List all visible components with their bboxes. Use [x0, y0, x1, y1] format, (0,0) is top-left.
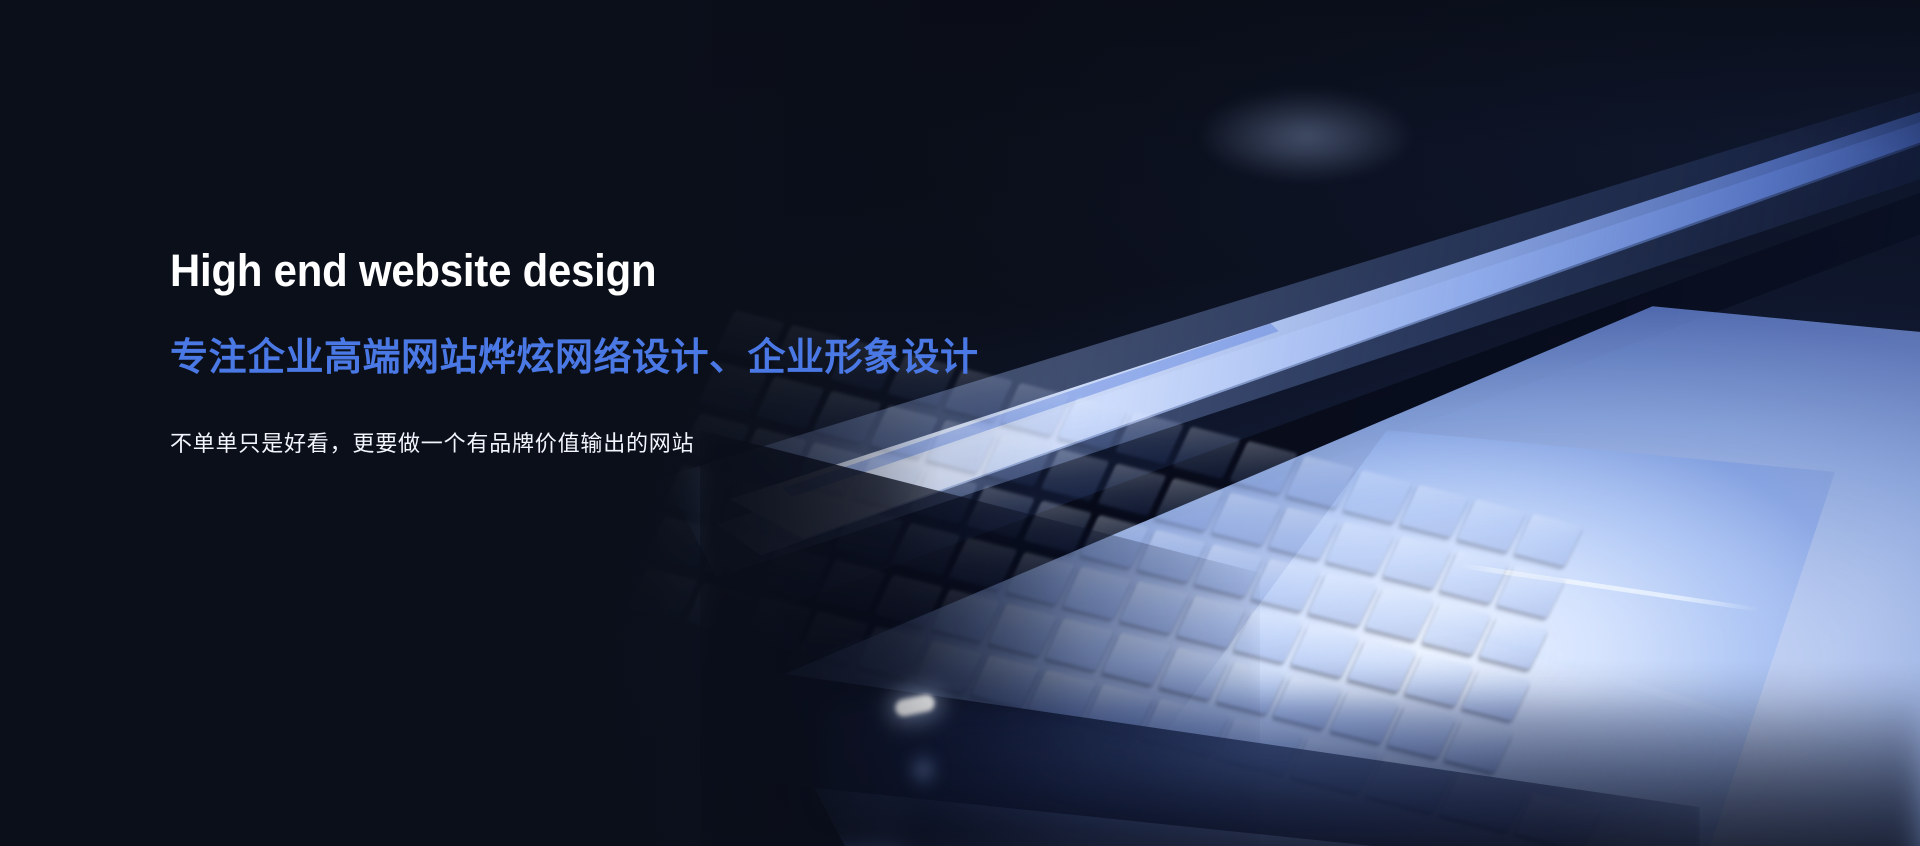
keyboard-key — [1326, 521, 1395, 574]
keyboard-key — [1365, 587, 1434, 640]
keyboard-key — [1251, 558, 1320, 611]
keyboard-key — [1440, 550, 1509, 603]
hero-banner: High end website design 专注企业高端网站烨炫网络设计、企… — [0, 0, 1920, 846]
power-led-reflection — [900, 745, 946, 795]
keyboard-key — [1098, 463, 1167, 516]
keyboard-key — [1155, 478, 1224, 531]
surface-glow — [820, 700, 1920, 846]
keyboard-key — [1308, 573, 1377, 626]
keyboard-key — [1041, 449, 1110, 502]
keyboard-key — [1497, 565, 1566, 618]
headline-english: High end website design — [170, 248, 1100, 293]
keyboard-key — [1348, 639, 1417, 692]
keyboard-key — [1212, 492, 1281, 545]
keyboard-key — [1291, 624, 1360, 677]
keyboard-key — [1383, 536, 1452, 589]
headline-chinese: 专注企业高端网站烨炫网络设计、企业形象设计 — [170, 339, 1170, 377]
keyboard-key — [1422, 602, 1491, 655]
keyboard-key — [1269, 507, 1338, 560]
laptop-lid-tip-glow — [1156, 70, 1456, 200]
keyboard-key — [1479, 617, 1548, 670]
keyboard-key — [629, 568, 698, 621]
hero-copy: High end website design 专注企业高端网站烨炫网络设计、企… — [170, 248, 1170, 455]
subheadline-chinese: 不单单只是好看，更要做一个有品牌价值输出的网站 — [170, 433, 1170, 455]
